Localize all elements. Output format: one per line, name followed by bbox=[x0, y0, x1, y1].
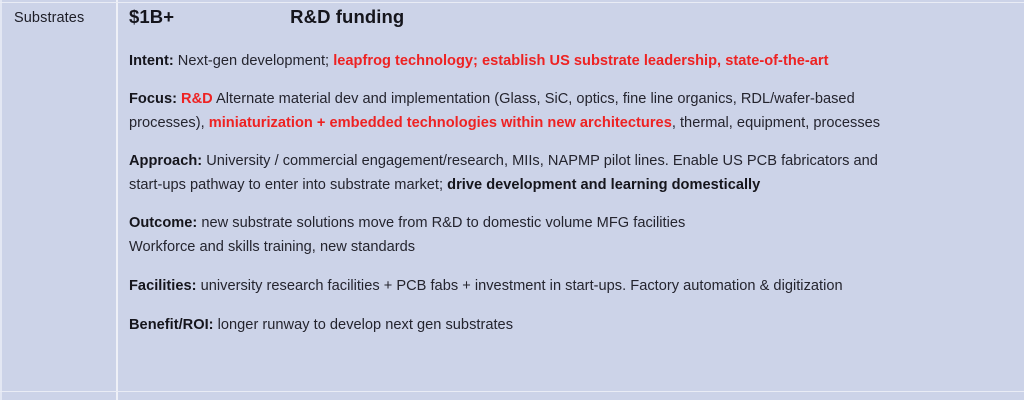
facilities-text: university research facilities + PCB fab… bbox=[197, 278, 843, 294]
spacer-facilities bbox=[129, 259, 1006, 274]
focus-line2-after: , thermal, equipment, processes bbox=[672, 115, 880, 131]
headline-row: $1B+ R&D funding bbox=[129, 6, 1006, 36]
spacer-focus bbox=[129, 73, 1006, 87]
approach-line2-emphasis: drive development and learning domestica… bbox=[447, 177, 760, 193]
intent-label: Intent: bbox=[129, 53, 174, 69]
facilities-label: Facilities: bbox=[129, 278, 197, 294]
category-label: Substrates bbox=[14, 9, 116, 27]
spacer-intent bbox=[129, 38, 1006, 49]
section-title: R&D funding bbox=[290, 6, 404, 28]
substrates-table: Substrates $1B+ R&D funding Intent: Next… bbox=[0, 0, 1024, 400]
facilities-paragraph: Facilities: university research faciliti… bbox=[129, 274, 1006, 298]
intent-text-before: Next-gen development; bbox=[174, 53, 333, 69]
spacer-benefit bbox=[129, 298, 1006, 313]
focus-label: Focus: bbox=[129, 91, 177, 107]
outcome-label: Outcome: bbox=[129, 215, 197, 231]
benefit-roi-paragraph: Benefit/ROI: longer runway to develop ne… bbox=[129, 313, 1006, 337]
approach-line2-before: start-ups pathway to enter into substrat… bbox=[129, 177, 447, 193]
intent-highlight: leapfrog technology; establish US substr… bbox=[333, 53, 828, 69]
approach-label: Approach: bbox=[129, 153, 202, 169]
focus-line1-rest: Alternate material dev and implementatio… bbox=[213, 91, 855, 107]
focus-paragraph: Focus: R&D Alternate material dev and im… bbox=[129, 87, 1006, 135]
approach-line1-rest: University / commercial engagement/resea… bbox=[202, 153, 878, 169]
category-cell: Substrates bbox=[0, 0, 118, 400]
outcome-line2: Workforce and skills training, new stand… bbox=[129, 239, 415, 255]
focus-line2-before: processes), bbox=[129, 115, 209, 131]
approach-paragraph: Approach: University / commercial engage… bbox=[129, 149, 1006, 197]
spacer-outcome bbox=[129, 197, 1006, 211]
benefit-roi-label: Benefit/ROI: bbox=[129, 317, 214, 333]
focus-lead-highlight: R&D bbox=[181, 91, 213, 107]
spacer-approach bbox=[129, 135, 1006, 149]
benefit-roi-text: longer runway to develop next gen substr… bbox=[214, 317, 513, 333]
funding-amount: $1B+ bbox=[129, 6, 174, 28]
outcome-paragraph: Outcome: new substrate solutions move fr… bbox=[129, 211, 1006, 259]
content-cell: $1B+ R&D funding Intent: Next-gen develo… bbox=[118, 0, 1024, 400]
focus-line2-highlight: miniaturization + embedded technologies … bbox=[209, 115, 672, 131]
outcome-line1-rest: new substrate solutions move from R&D to… bbox=[197, 215, 685, 231]
intent-paragraph: Intent: Next-gen development; leapfrog t… bbox=[129, 49, 1006, 73]
